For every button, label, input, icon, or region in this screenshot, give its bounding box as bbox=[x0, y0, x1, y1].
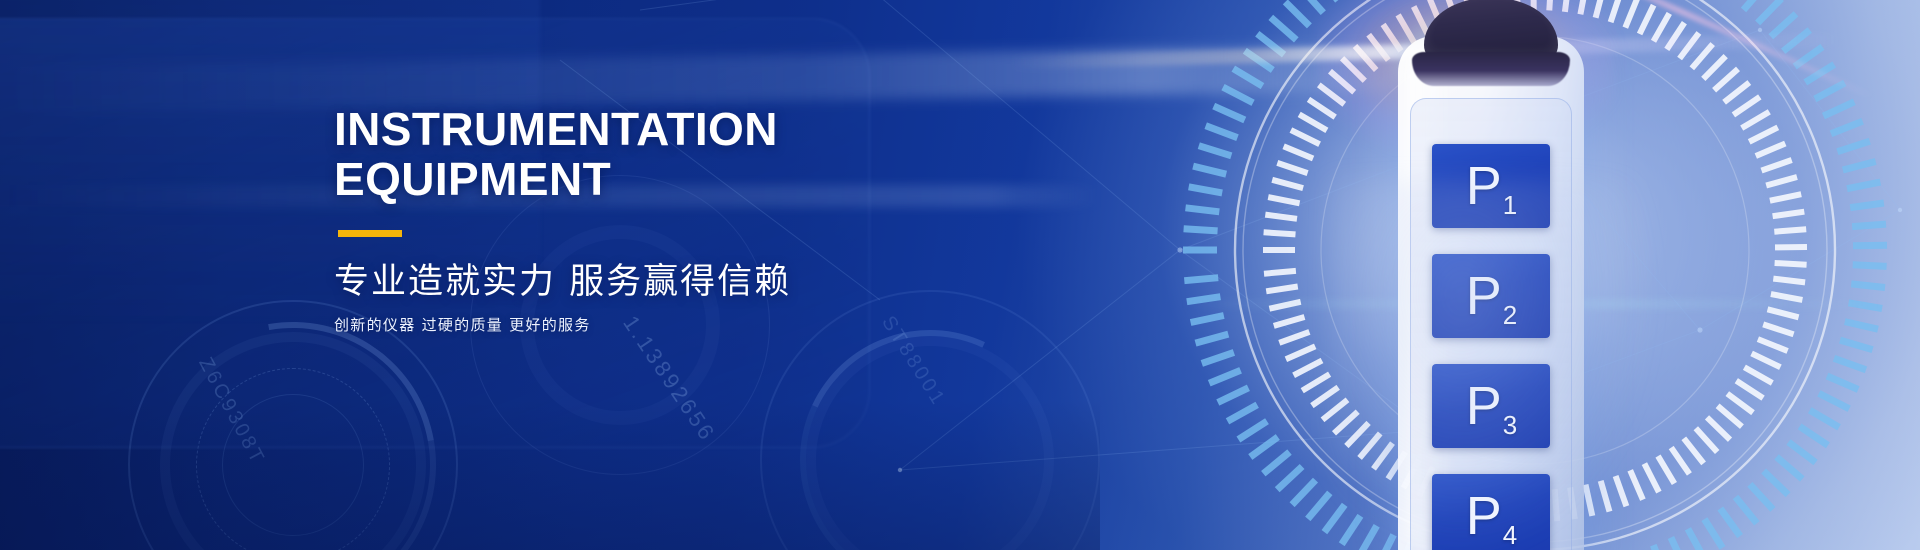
hero-banner: Z6C9308T 1.13892656 ST88001 bbox=[0, 0, 1920, 550]
bottom-shadow-wash bbox=[0, 400, 1100, 550]
device-collar bbox=[1412, 52, 1570, 86]
banner-sub-slogan: 创新的仪器 过硬的质量 更好的服务 bbox=[334, 315, 1094, 336]
banner-content: INSTRUMENTATION EQUIPMENT 专业造就实力 服务赢得信赖 … bbox=[334, 104, 1094, 336]
device-glow-haze bbox=[1330, 180, 1660, 550]
accent-divider bbox=[338, 230, 402, 237]
banner-title-line1: INSTRUMENTATION bbox=[334, 103, 778, 155]
banner-slogan: 专业造就实力 服务赢得信赖 bbox=[334, 261, 1094, 305]
banner-title-en: INSTRUMENTATION EQUIPMENT bbox=[334, 104, 1094, 204]
banner-title-line2: EQUIPMENT bbox=[334, 154, 1094, 204]
